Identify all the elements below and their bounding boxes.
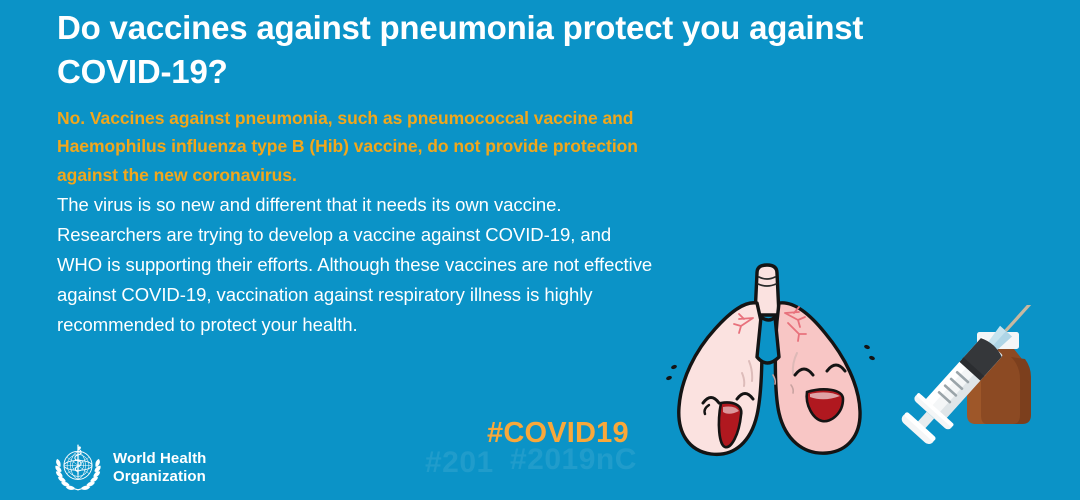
body-paragraph: The virus is so new and different that i… xyxy=(57,190,657,341)
smiling-lungs-icon xyxy=(645,255,895,470)
poster-canvas: Do vaccines against pneumonia protect yo… xyxy=(0,0,1080,500)
hashtag-covid19: #COVID19 xyxy=(487,417,629,450)
page-title: Do vaccines against pneumonia protect yo… xyxy=(57,6,887,94)
syringe-and-bottle-icon xyxy=(872,305,1057,465)
who-logo: World Health Organization xyxy=(52,442,206,494)
answer-highlight-text: No. Vaccines against pneumonia, such as … xyxy=(57,104,657,190)
ghost-watermark-1: #201 xyxy=(425,446,494,480)
who-emblem-icon xyxy=(52,442,104,494)
who-wordmark-label: World Health Organization xyxy=(113,450,206,485)
